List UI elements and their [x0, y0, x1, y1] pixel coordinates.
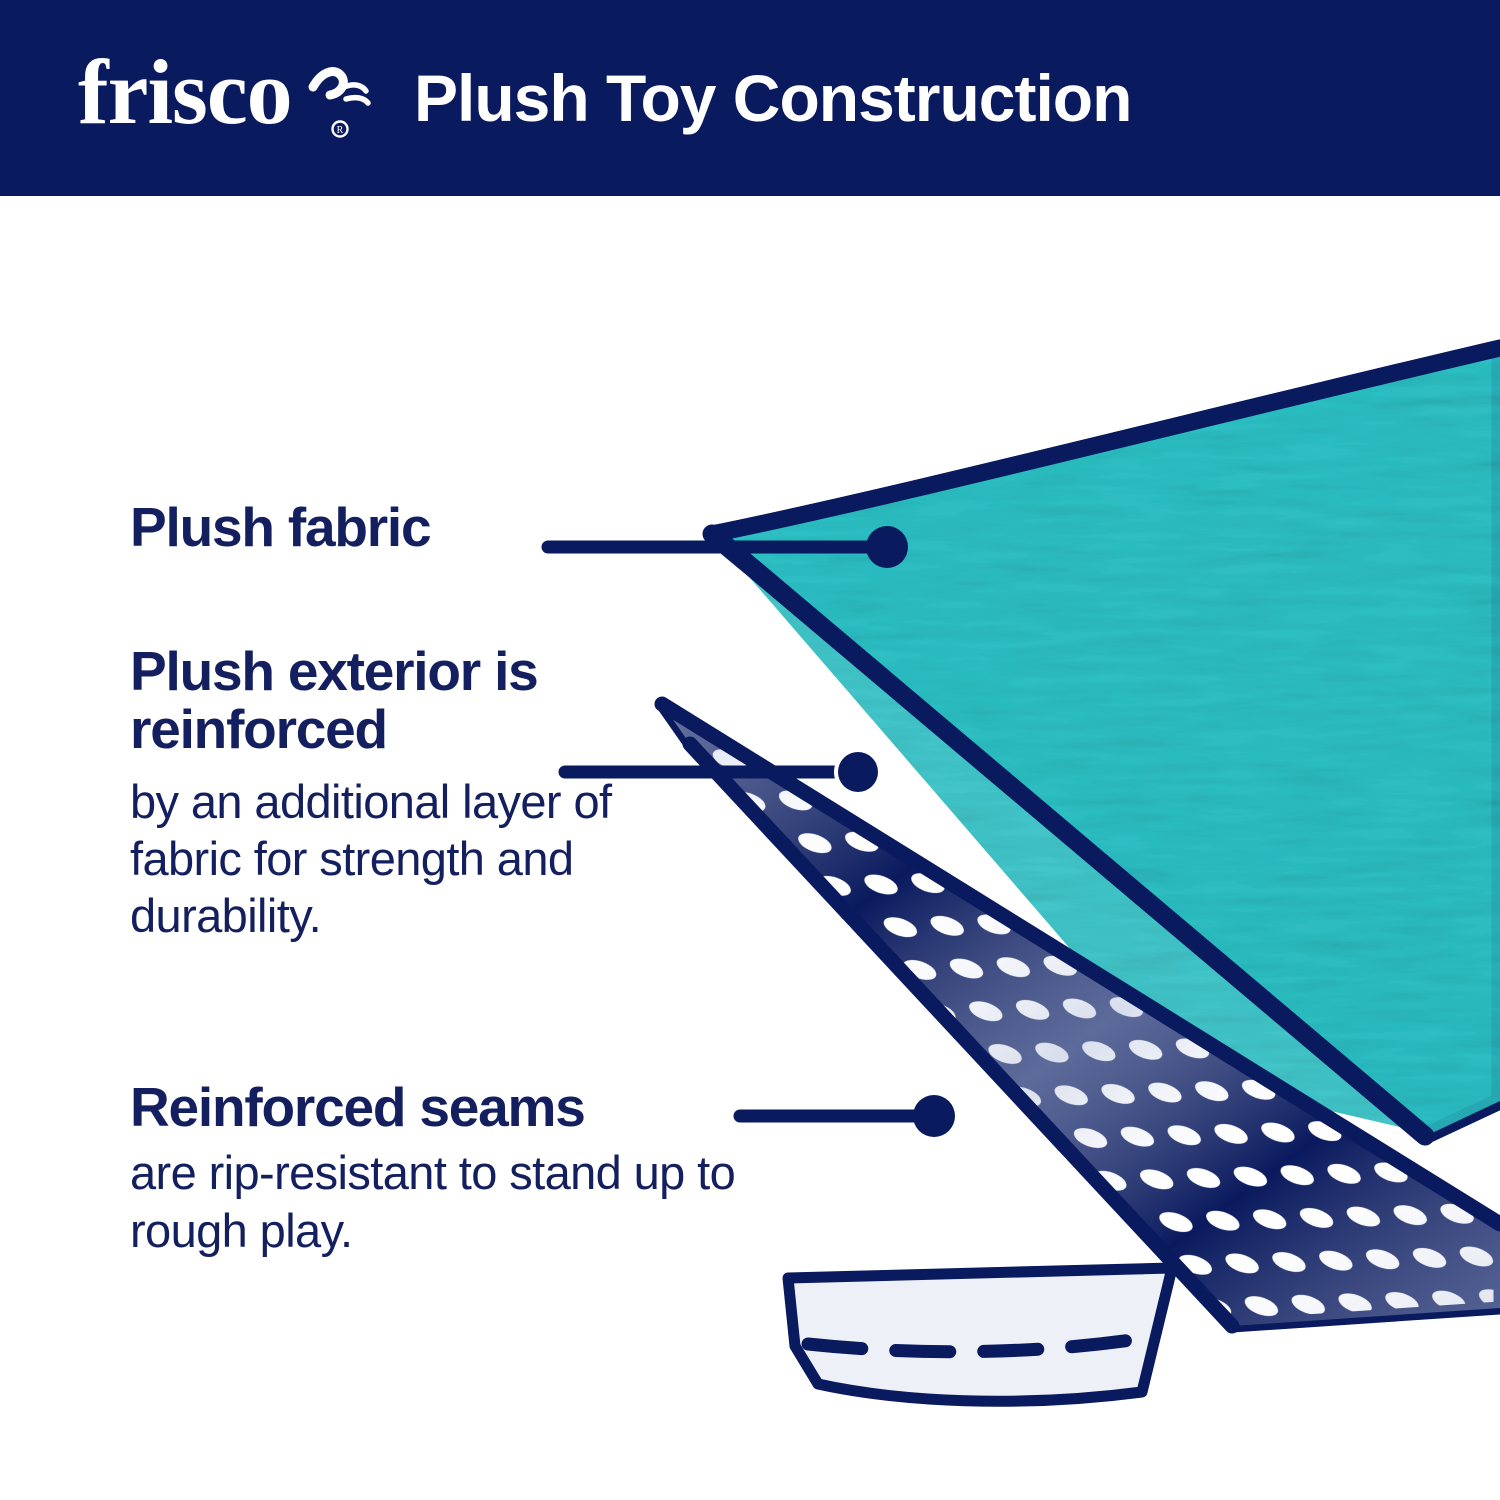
callout-plush-exterior-headline: Plush exterior is reinforced: [130, 642, 730, 759]
callout-plush-exterior-body: by an additional layer of fabric for str…: [130, 773, 730, 945]
callout-reinforced-seams-headline: Reinforced seams: [130, 1078, 790, 1136]
callout-plush-fabric-headline: Plush fabric: [130, 498, 560, 556]
svg-text:frisco: frisco: [78, 43, 292, 143]
callout-plush-exterior: Plush exterior is reinforced by an addit…: [130, 642, 730, 945]
callout-reinforced-seams: Reinforced seams are rip-resistant to st…: [130, 1078, 790, 1259]
header-bar: frisco R Plush Toy Construction: [0, 0, 1500, 196]
seam-flap-layer: [788, 1268, 1172, 1401]
callout-plush-fabric: Plush fabric: [130, 498, 560, 556]
frisco-logo: frisco R: [78, 43, 378, 153]
callout-reinforced-seams-body: are rip-resistant to stand up to rough p…: [130, 1144, 790, 1259]
page-title: Plush Toy Construction: [414, 65, 1131, 131]
infographic-page: frisco R Plush Toy Construction: [0, 0, 1500, 1500]
registered-trademark-icon: R: [333, 122, 348, 137]
svg-text:R: R: [337, 125, 344, 136]
